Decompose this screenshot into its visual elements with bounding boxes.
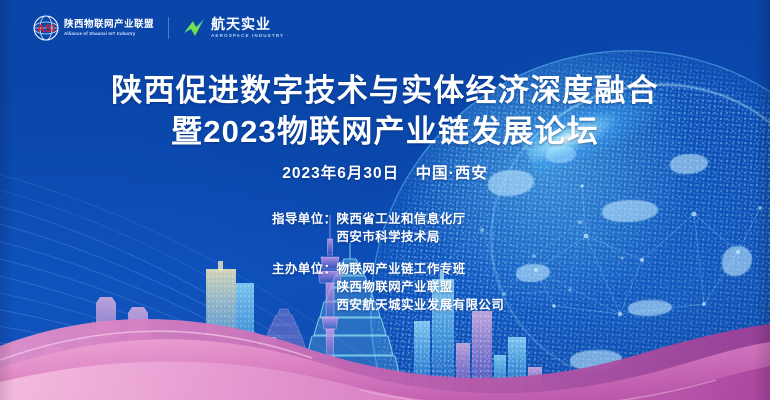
title-line-1: 陕西促进数字技术与实体经济深度融合 [0,70,770,111]
host-unit-value: 西安航天城实业发展有限公司 [337,296,602,314]
title-line-2: 暨2023物联网产业链发展论坛 [0,111,770,152]
host-unit-row: 主办单位： 物联网产业链工作专班 陕西物联网产业联盟 西安航天城实业发展有限公司 [272,260,602,314]
svg-text:ASI: ASI [37,23,55,35]
host-unit-value: 陕西物联网产业联盟 [337,278,602,296]
organizer-block: 指导单位： 陕西省工业和信息化厅 西安市科学技术局 主办单位： 物联网产业链工作… [272,210,602,328]
asi-logo-cn: 陕西物联网产业联盟 [64,20,154,30]
guidance-unit-value: 西安市科学技术局 [337,228,602,246]
host-unit-label: 主办单位： [272,260,337,278]
logo-divider [168,17,169,39]
date-location-line: 2023年6月30日 中国·西安 [0,161,770,183]
guidance-unit-row: 指导单位： 陕西省工业和信息化厅 西安市科学技术局 [272,210,602,246]
aerospace-logo-cn: 航天实业 [211,17,284,31]
host-unit-value: 物联网产业链工作专班 [337,260,602,278]
aerospace-swoosh-icon [183,18,205,38]
aerospace-logo: 航天实业 AEROSPACE INDUSTRY [183,17,284,38]
asi-logo: ASI 陕西物联网产业联盟 Alliance of Shaanxi IoT In… [33,15,154,41]
logo-bar: ASI 陕西物联网产业联盟 Alliance of Shaanxi IoT In… [33,12,284,44]
guidance-unit-value: 陕西省工业和信息化厅 [337,210,602,228]
aerospace-logo-en: AEROSPACE INDUSTRY [211,34,284,39]
asi-emblem-icon: ASI [33,15,59,41]
asi-logo-en: Alliance of Shaanxi IoT Industry [64,31,154,36]
banner-title: 陕西促进数字技术与实体经济深度融合 暨2023物联网产业链发展论坛 [0,70,770,152]
guidance-unit-label: 指导单位： [272,210,337,228]
conference-banner: ASI 陕西物联网产业联盟 Alliance of Shaanxi IoT In… [0,0,770,400]
